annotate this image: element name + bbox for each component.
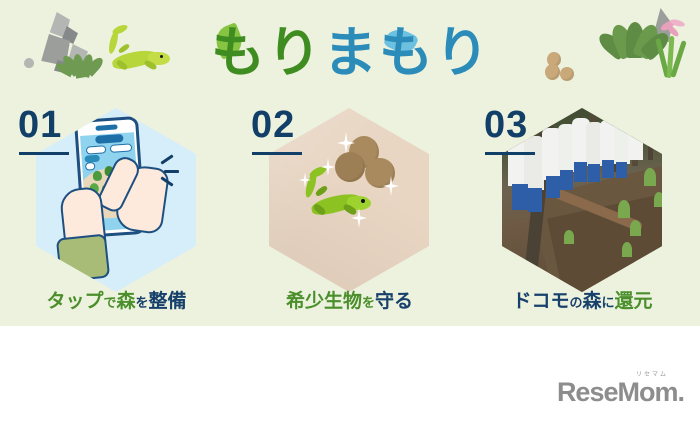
page-title: もりまもり [196, 22, 506, 84]
caption-part: を [136, 295, 149, 310]
card-02-number-underline [252, 152, 302, 155]
caption-part: 森 [582, 291, 601, 312]
header: もりまもり [0, 0, 700, 96]
caption-part: 希少生物 [286, 291, 362, 312]
caption-part: 森 [116, 291, 135, 312]
card-01-caption: タップで森を整備 [0, 292, 233, 311]
card-01[interactable]: 01 タップで森を整備 [0, 96, 233, 326]
logo-wordmark: ReseMom. [557, 379, 684, 406]
title-char-2: り [267, 26, 323, 80]
gecko-decoration [98, 24, 176, 86]
card-01-number-underline [19, 152, 69, 155]
logo-name: ReseMom [557, 377, 678, 407]
card-01-number: 01 [18, 106, 62, 144]
cards-row: 01 タップで森を整備 [0, 96, 700, 326]
infographic-root: もりまもり [0, 0, 700, 424]
green-stage: もりまもり [0, 0, 700, 326]
card-03-number: 03 [484, 106, 528, 144]
title-char-1: も [211, 26, 267, 80]
caption-part: で [103, 295, 116, 310]
card-02-caption: 希少生物を守る [233, 292, 466, 311]
logo-period: . [677, 377, 684, 407]
tap-spark-1 [160, 154, 173, 164]
eggs-decoration [545, 50, 589, 82]
resemom-logo[interactable]: リセマム ReseMom. [557, 372, 684, 406]
caption-part: 還元 [615, 291, 653, 312]
caption-part: を [362, 295, 375, 310]
card-03[interactable]: 03 ドコモの森に還元 [466, 96, 699, 326]
title-char-4: も [379, 26, 435, 80]
phone-notch-icon [95, 124, 117, 131]
title-char-5: り [435, 26, 491, 80]
card-02[interactable]: 02 希少生物を守る [233, 96, 466, 326]
caption-part: 守る [375, 291, 413, 312]
card-03-number-underline [485, 152, 535, 155]
tap-spark-2 [164, 170, 179, 173]
caption-part: 整備 [149, 291, 187, 312]
caption-part: ドコモ [512, 291, 569, 312]
caption-part: タップ [46, 291, 103, 312]
card-03-caption: ドコモの森に還元 [466, 292, 699, 311]
caption-part: に [602, 295, 615, 310]
title-char-3: ま [323, 26, 379, 80]
card-02-number: 02 [251, 106, 295, 144]
gecko-illustration [299, 168, 375, 228]
sleeve-cuff [56, 234, 110, 283]
leaf-rock-orchid-decoration [598, 8, 698, 92]
caption-part: の [569, 295, 582, 310]
